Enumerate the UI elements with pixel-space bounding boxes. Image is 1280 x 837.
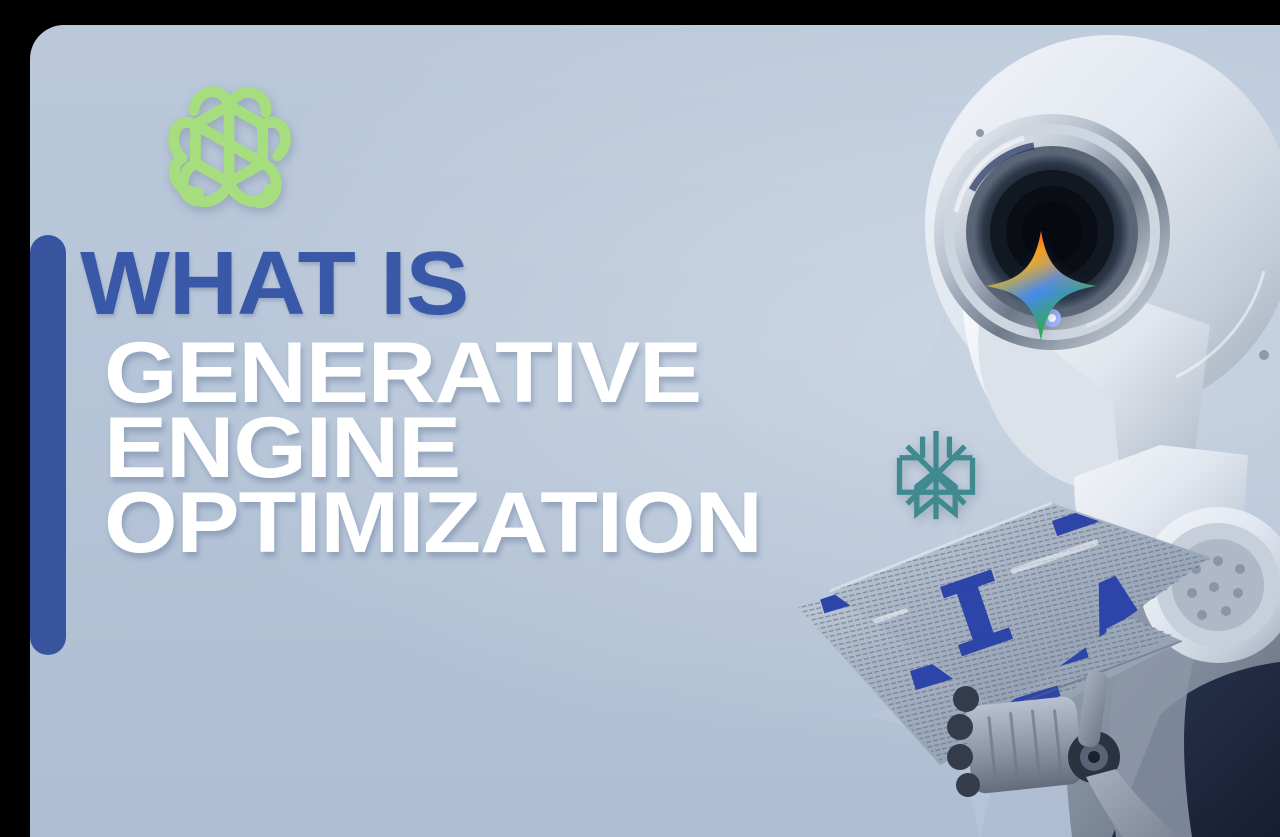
openai-logo-icon	[145, 70, 313, 238]
headline-eyebrow: WHAT IS	[80, 243, 739, 326]
perplexity-logo-icon	[888, 427, 984, 523]
left-accent-bar	[30, 235, 66, 655]
robot-hand-figure	[910, 665, 1280, 837]
thumbnail-stage: WHAT IS GENERATIVE ENGINE OPTIMIZATION	[0, 0, 1280, 837]
page-title: WHAT IS GENERATIVE ENGINE OPTIMIZATION	[80, 243, 702, 563]
newspaper-figure	[790, 495, 1210, 795]
watermark-star-small	[865, 585, 1095, 837]
gemini-sparkle-icon	[982, 227, 1100, 345]
headline-line-3: OPTIMIZATION	[104, 484, 762, 563]
thumbnail-card: WHAT IS GENERATIVE ENGINE OPTIMIZATION	[30, 25, 1280, 837]
